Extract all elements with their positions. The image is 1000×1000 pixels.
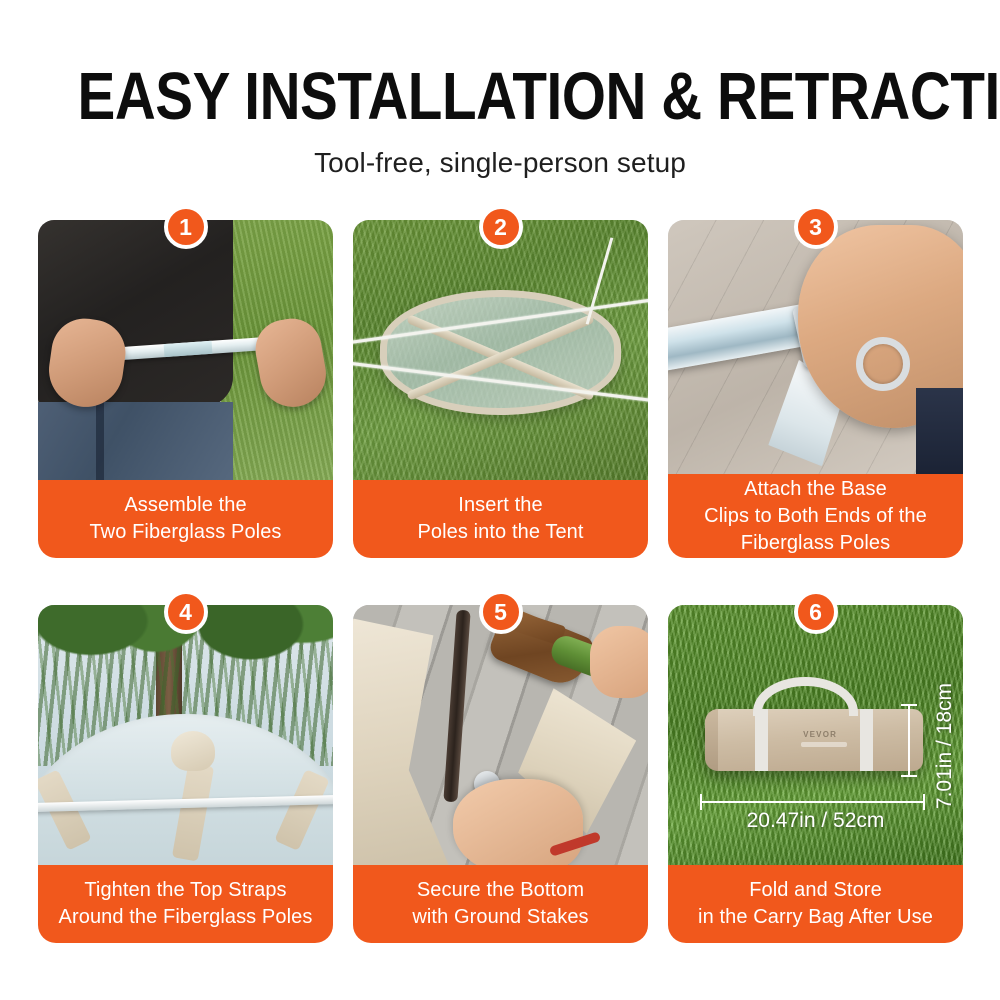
steps-grid: 1 Assemble the Two Fiberglass Poles — [38, 205, 963, 943]
caption-line: Tighten the Top Straps — [84, 877, 286, 904]
caption-line: Attach the Base — [744, 476, 887, 503]
caption-line: Fiberglass Poles — [741, 530, 890, 557]
step-2-photo — [353, 220, 648, 480]
step-card-6: VEVOR 20.47in / 52cm 7.01in / 18cm 6 Fol… — [668, 590, 963, 943]
step-4-caption: Tighten the Top Straps Around the Fiberg… — [38, 865, 333, 943]
caption-line: Assemble the — [124, 492, 246, 519]
scene-attach-base-clip — [668, 220, 963, 474]
vevor-logo: VEVOR — [803, 730, 837, 739]
bag-strap-right — [860, 709, 873, 771]
caption-line: Clips to Both Ends of the — [704, 503, 927, 530]
strap-knot — [171, 731, 215, 771]
finger-ring — [856, 337, 910, 391]
sleeve — [916, 388, 963, 474]
step-3-photo — [668, 220, 963, 474]
step-number-badge-3: 3 — [794, 205, 838, 249]
step-4-photo — [38, 605, 333, 865]
step-5-caption: Secure the Bottom with Ground Stakes — [353, 865, 648, 943]
scene-ground-stake-hammering — [353, 605, 648, 865]
height-dimension-label: 7.01in / 18cm — [933, 683, 957, 809]
caption-line: Around the Fiberglass Poles — [59, 904, 313, 931]
step-1-caption: Assemble the Two Fiberglass Poles — [38, 480, 333, 558]
step-number-badge-2: 2 — [479, 205, 523, 249]
page-subtitle: Tool-free, single-person setup — [0, 146, 1000, 180]
step-number-badge-4: 4 — [164, 590, 208, 634]
jeans — [38, 402, 233, 480]
step-number-badge-6: 6 — [794, 590, 838, 634]
width-dimension-bar — [700, 801, 924, 803]
step-5-photo — [353, 605, 648, 865]
step-6-photo: VEVOR 20.47in / 52cm 7.01in / 18cm — [668, 605, 963, 865]
step-number-badge-5: 5 — [479, 590, 523, 634]
step-card-2: 2 Insert the Poles into the Tent — [353, 205, 648, 558]
step-1-photo — [38, 220, 333, 480]
scene-person-holding-pole — [38, 220, 333, 480]
caption-line: Secure the Bottom — [417, 877, 584, 904]
header: EASY INSTALLATION & RETRACTION Tool-free… — [0, 62, 1000, 180]
step-2-caption: Insert the Poles into the Tent — [353, 480, 648, 558]
carry-bag: VEVOR — [705, 709, 923, 771]
step-card-4: 4 Tighten the Top Straps Around the Fibe… — [38, 590, 333, 943]
step-card-1: 1 Assemble the Two Fiberglass Poles — [38, 205, 333, 558]
scene-carry-bag-on-grass: VEVOR 20.47in / 52cm 7.01in / 18cm — [668, 605, 963, 865]
caption-line: Two Fiberglass Poles — [89, 519, 281, 546]
step-card-5: 5 Secure the Bottom with Ground Stakes — [353, 590, 648, 943]
caption-line: with Ground Stakes — [412, 904, 588, 931]
width-dimension-label: 20.47in / 52cm — [668, 809, 963, 833]
bag-strap-left — [755, 709, 768, 771]
scene-flat-tent-on-grass — [353, 220, 648, 480]
caption-line: Poles into the Tent — [417, 519, 583, 546]
height-dimension-bar — [908, 704, 910, 777]
page-title: EASY INSTALLATION & RETRACTION — [78, 62, 923, 132]
infographic-page: EASY INSTALLATION & RETRACTION Tool-free… — [0, 0, 1000, 1000]
hand-holding-hammer — [590, 626, 648, 698]
caption-line: in the Carry Bag After Use — [698, 904, 933, 931]
step-number-badge-1: 1 — [164, 205, 208, 249]
step-6-caption: Fold and Store in the Carry Bag After Us… — [668, 865, 963, 943]
scene-tent-top-straps — [38, 605, 333, 865]
step-3-caption: Attach the Base Clips to Both Ends of th… — [668, 474, 963, 558]
step-card-3: 3 Attach the Base Clips to Both Ends of … — [668, 205, 963, 558]
caption-line: Insert the — [458, 492, 542, 519]
bag-end-cap — [705, 709, 718, 771]
caption-line: Fold and Store — [749, 877, 882, 904]
